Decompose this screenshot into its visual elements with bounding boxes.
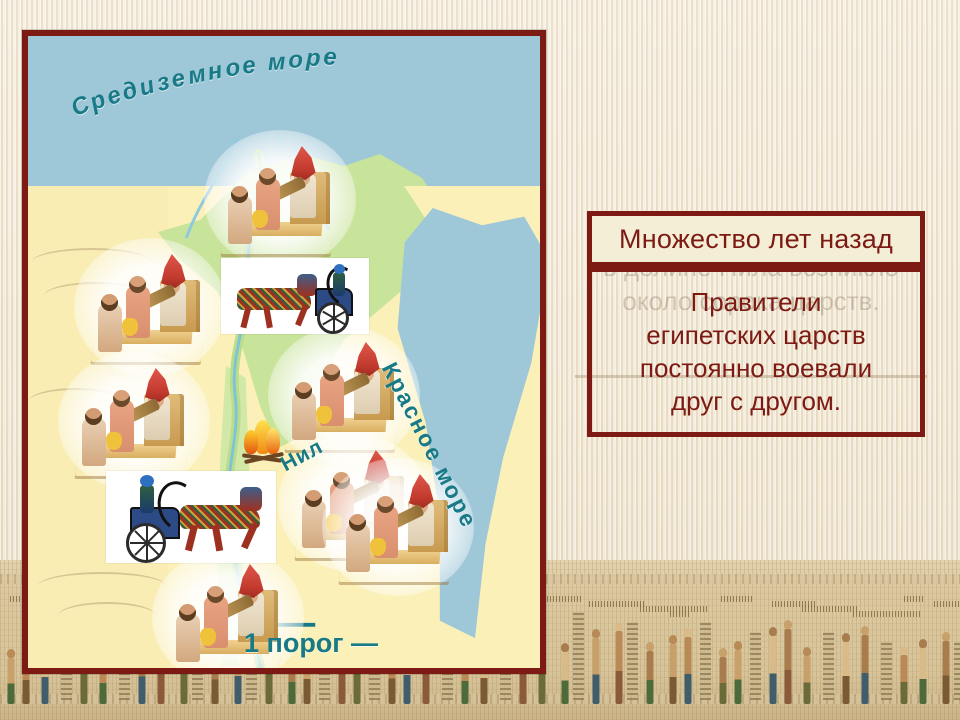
title-text-box[interactable]: Множество лет назад: [587, 211, 925, 267]
frieze-figure-body: [685, 637, 692, 704]
kneeling-attendant-figure: [228, 196, 252, 244]
map-of-ancient-egypt[interactable]: Средиземное море Красное море Нил 1 поро…: [22, 30, 546, 674]
archer-helmet: [140, 475, 154, 487]
frieze-figure-head: [861, 626, 869, 635]
frieze-hieroglyph-text: [721, 596, 753, 602]
attendant-face: [323, 364, 340, 381]
frieze-figure: [643, 639, 657, 704]
dune-outline: [38, 572, 166, 600]
frieze-figure: [800, 644, 814, 704]
frieze-figure-head: [719, 648, 727, 657]
archer-figure: [333, 272, 345, 296]
frieze-figure-head: [646, 642, 654, 651]
frieze-figure-body: [943, 641, 950, 704]
frieze-figure: [681, 625, 695, 704]
ruler-cluster[interactable]: [68, 362, 200, 480]
frieze-figure-head: [769, 627, 777, 636]
frieze-figure: [666, 632, 680, 704]
frieze-figure-body: [735, 650, 742, 704]
frieze-figure-body: [647, 651, 654, 704]
frieze-figure-body: [804, 656, 811, 704]
kneeling-attendant-figure: [82, 418, 106, 466]
chariot-wheel: [317, 302, 349, 334]
body-line-1: Правители: [691, 286, 822, 319]
frieze-figure-head: [803, 647, 811, 656]
chariot-illustration-card[interactable]: [221, 258, 369, 334]
attendant-face: [113, 390, 130, 407]
frieze-figure-body: [593, 638, 600, 704]
attendant-face: [129, 276, 146, 293]
frieze-figure: [781, 617, 795, 704]
frieze-hieroglyph-column: [627, 622, 638, 700]
frieze-figure-head: [561, 643, 569, 652]
frieze-figure: [897, 643, 911, 704]
frieze-figure-head: [942, 632, 950, 641]
frieze-hieroglyph-column: [750, 632, 761, 700]
frieze-figure-head: [615, 622, 623, 631]
frieze-figure: [916, 636, 930, 704]
frieze-hieroglyph-text: [853, 611, 921, 617]
offering-jug: [122, 318, 138, 336]
ruler-cluster[interactable]: [84, 248, 216, 366]
frieze-figure-body: [862, 635, 869, 704]
frieze-figure-body: [843, 642, 850, 704]
frieze-figure-body: [670, 644, 677, 704]
attendant-face: [231, 186, 248, 203]
title-label: Множество лет назад: [619, 224, 893, 254]
frieze-figure-head: [669, 635, 677, 644]
frieze-figure-body: [8, 658, 15, 704]
slide-canvas: Средиземное море Красное море Нил 1 поро…: [0, 0, 960, 720]
frieze-figure-body: [901, 655, 908, 704]
chariot-illustration-card[interactable]: [106, 471, 276, 563]
frieze-figure-head: [919, 639, 927, 648]
frieze-figure-body: [720, 657, 727, 704]
frieze-figure-head: [734, 641, 742, 650]
offering-jug: [106, 432, 122, 450]
attendant-face: [179, 604, 196, 621]
frieze-figure-head: [592, 629, 600, 638]
offering-jug: [370, 538, 386, 556]
attendant-face: [295, 382, 312, 399]
frieze-figure: [558, 640, 572, 704]
attendant-face: [349, 514, 366, 531]
archer-figure: [140, 485, 154, 513]
frieze-figure: [4, 646, 18, 704]
attendant-face: [305, 490, 322, 507]
frieze-hieroglyph-column: [573, 612, 584, 700]
attendant-face: [85, 408, 102, 425]
frieze-figure: [858, 623, 872, 704]
horse-head: [297, 274, 317, 296]
frieze-figure-body: [785, 629, 792, 704]
archer-helmet: [334, 264, 345, 274]
dune-outline: [58, 602, 156, 630]
body-line-2: египетских царств: [646, 319, 865, 352]
frieze-hieroglyph-text: [802, 606, 858, 612]
frieze-figure: [589, 626, 603, 704]
frieze-hieroglyph-column: [823, 632, 834, 700]
attendant-face: [101, 294, 118, 311]
ruler-cluster[interactable]: [214, 140, 346, 258]
horse-head: [240, 487, 262, 511]
frieze-hieroglyph-text: [670, 611, 690, 617]
frieze-figure-body: [616, 631, 623, 704]
kneeling-attendant-figure: [292, 392, 316, 440]
attendant-face: [259, 168, 276, 185]
attendant-face: [377, 496, 394, 513]
frieze-figure: [731, 638, 745, 704]
offering-jug: [316, 406, 332, 424]
frieze-figure-head: [684, 628, 692, 637]
body-text-box[interactable]: Правители египетских царств постоянно во…: [587, 267, 925, 437]
kneeling-attendant-figure: [98, 304, 122, 352]
frieze-hieroglyph-column: [954, 642, 960, 700]
frieze-figure-head: [7, 649, 15, 658]
attendant-face: [207, 586, 224, 603]
frieze-figure-head: [900, 646, 908, 655]
frieze-figure: [839, 630, 853, 704]
map-label-first-cataract: 1 порог —: [244, 628, 378, 659]
frieze-figure-body: [562, 652, 569, 704]
frieze-hieroglyph-column: [881, 642, 892, 700]
kneeling-attendant-figure: [346, 524, 370, 572]
frieze-figure: [716, 645, 730, 704]
frieze-figure: [939, 629, 953, 704]
frieze-figure: [612, 619, 626, 704]
frieze-hieroglyph-text: [589, 601, 645, 607]
chariot-wheel: [126, 523, 166, 563]
body-line-4: друг с другом.: [671, 385, 841, 418]
frieze-figure: [766, 624, 780, 704]
frieze-hieroglyph-text: [934, 601, 960, 607]
frieze-figure-body: [770, 636, 777, 704]
kneeling-attendant-figure: [176, 614, 200, 662]
frieze-figure-head: [842, 633, 850, 642]
offering-jug: [252, 210, 268, 228]
frieze-hieroglyph-text: [904, 596, 924, 602]
offering-jug: [200, 628, 216, 646]
body-line-3: постоянно воевали: [640, 352, 872, 385]
frieze-hieroglyph-column: [700, 622, 711, 700]
frieze-figure-head: [784, 620, 792, 629]
frieze-figure-body: [920, 648, 927, 704]
